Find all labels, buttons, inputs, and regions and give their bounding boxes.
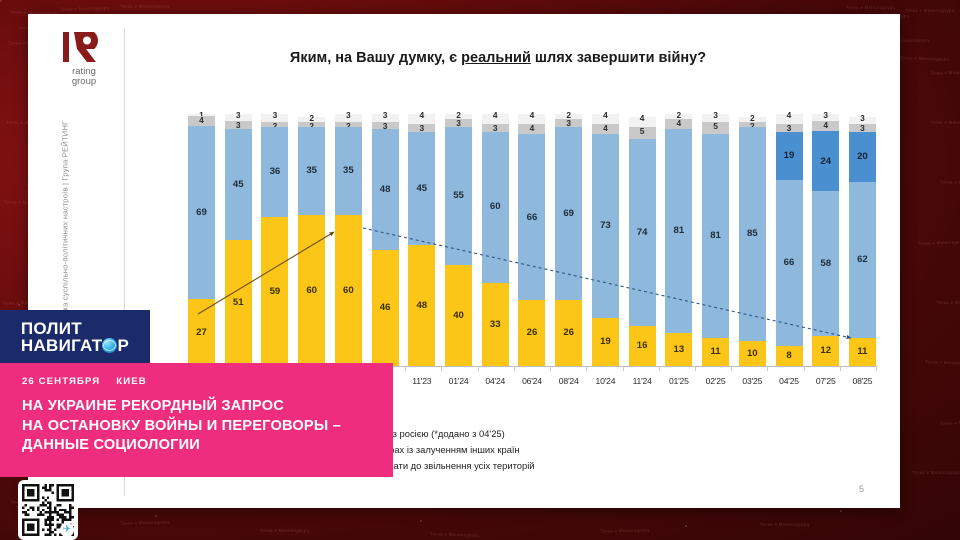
stacked-bar-chart: 1469273345513236592235603235603348464345…: [188, 114, 876, 366]
bar-column: 146927: [188, 114, 215, 366]
bar-segment-comp1: 16: [629, 326, 656, 366]
bar-segment-comp2: 60: [482, 132, 509, 283]
globe-icon: [102, 338, 117, 353]
x-axis-tick: [659, 366, 660, 371]
bar-segment-comp2: 85: [739, 127, 766, 341]
bar-column: 334846: [372, 114, 399, 366]
background-watermark-text: Точка и Монолодкурц: [430, 531, 480, 537]
bar-value-label: 46: [380, 303, 391, 313]
background-speck: [420, 520, 422, 522]
background-watermark-text: Точка и Монолодкурц: [60, 5, 110, 11]
background-watermark-text: Точка и Монолодкурц: [936, 300, 960, 305]
bar-value-label: 10: [747, 349, 758, 359]
bar-value-label: 11: [710, 347, 720, 357]
x-axis-label: 04'25: [776, 376, 803, 386]
bar-segment-comp1: 48: [408, 245, 435, 366]
bar-segment-comp2: 74: [629, 139, 656, 325]
background-watermark-text: Точка и Монолодкурц: [260, 528, 309, 533]
banner-date: 26 СЕНТЯБРЯ: [22, 376, 100, 387]
bar-segment-comp1: 12: [812, 336, 839, 366]
background-watermark-text: Точка и Монолодкурц: [912, 470, 960, 475]
bar-value-label: 19: [600, 337, 611, 347]
x-axis-label: 11'23: [408, 376, 435, 386]
x-axis-tick: [804, 366, 805, 371]
bar-value-label: 66: [527, 213, 538, 223]
x-axis-label: 04'24: [482, 376, 509, 386]
background-watermark-text: Точка и Монолодкурц: [930, 69, 960, 75]
bar-segment-refuse: 3: [408, 124, 435, 132]
bar-column: 457416: [629, 114, 656, 366]
bar-segment-comp2: 55: [445, 127, 472, 266]
x-axis-label: 08'24: [555, 376, 582, 386]
bar-value-label: 11: [857, 347, 867, 357]
bar-segment-refuse: 3: [225, 121, 252, 128]
background-watermark-text: Точка и Монолодкурц: [600, 527, 650, 533]
bar-column: 34245812: [812, 114, 839, 366]
bar-segment-refuse: 3: [849, 124, 876, 132]
bar-value-label: 4: [823, 121, 828, 129]
bar-value-label: 5: [640, 127, 645, 135]
bar-segment-comp1: 60: [298, 215, 325, 366]
x-axis-tick: [731, 366, 732, 371]
x-axis-label: 11'24: [629, 376, 656, 386]
bar-value-label: 69: [196, 208, 207, 218]
bar-value-label: 4: [603, 111, 608, 119]
bar-segment-comp1: 19: [592, 318, 619, 366]
bar-value-label: 26: [527, 328, 538, 338]
bar-segment-comp2: 45: [225, 129, 252, 240]
news-banner: 26 СЕНТЯБРЯКИЕВ НА УКРАИНЕ РЕКОРДНЫЙ ЗАП…: [0, 363, 393, 477]
x-axis-tick: [623, 366, 624, 371]
bar-value-label: 60: [343, 286, 354, 296]
qr-code[interactable]: ✈: [18, 480, 78, 540]
background-watermark-text: Точка и Монолодкурц: [918, 239, 960, 245]
bar-value-label: 13: [674, 345, 685, 355]
screen: Точка и МонолодкурцТочка и МонолодкурцТо…: [0, 0, 960, 540]
bar-value-label: 60: [490, 202, 501, 212]
bar-segment-comp2: 48: [372, 129, 399, 250]
background-watermark-text: Точка и Монолодкурц: [760, 522, 809, 527]
brand-line-1: ПОЛИТ: [21, 320, 129, 337]
x-axis-tick: [695, 366, 696, 371]
page-number: 5: [859, 484, 864, 494]
x-axis-label: 10'24: [592, 376, 619, 386]
vertical-caption: Динаміка суспільно-політичних настроїв |…: [61, 114, 70, 344]
bar-segment-comp1: 27: [188, 299, 215, 366]
bar-segment-comp2: 62: [849, 182, 876, 338]
bar-value-label: 48: [416, 301, 427, 311]
rating-group-logo: rating group: [48, 30, 120, 96]
bar-value-label: 58: [820, 259, 831, 269]
logo-word-group: group: [72, 77, 96, 87]
brand-line-2b: Р: [117, 336, 129, 355]
background-speck: [0, 0, 2, 2]
x-axis-label: 07'25: [812, 376, 839, 386]
bar-segment-refuse: 3: [372, 122, 399, 130]
bar-segment-refuse: 4: [518, 124, 545, 134]
background-speck: [840, 510, 842, 512]
bar-segment-refuse: 3: [445, 119, 472, 127]
brand-line-2a: НАВИГАТ: [21, 336, 103, 355]
bar-value-label: 27: [196, 328, 207, 338]
bar-segment-comp1: 60: [335, 215, 362, 366]
bar-value-label: 35: [343, 166, 354, 176]
bar-value-label: 3: [383, 111, 388, 119]
bar-value-label: 45: [416, 184, 427, 194]
bar-value-label: 55: [453, 191, 464, 201]
bar-segment-comp2: 36: [261, 127, 288, 218]
x-axis-label: 02'25: [702, 376, 729, 386]
x-axis-label: 06'24: [518, 376, 545, 386]
bar-value-label: 24: [820, 157, 831, 167]
bar-value-label: 5: [713, 122, 718, 130]
bar-column: 447319: [592, 114, 619, 366]
bar-column: 223560: [298, 114, 325, 366]
bar-column: 236926: [555, 114, 582, 366]
bar-segment-refuse: 5: [629, 127, 656, 140]
bar-segment-comp2: 35: [335, 127, 362, 215]
bar-value-label: 3: [860, 114, 865, 122]
x-axis-tick: [550, 366, 551, 371]
chart-title-underlined: реальний: [461, 50, 531, 66]
banner-meta: 26 СЕНТЯБРЯКИЕВ: [22, 376, 147, 387]
bar-column: 446626: [518, 114, 545, 366]
bar-column: 4319668: [776, 114, 803, 366]
bar-column: 248113: [665, 114, 692, 366]
bar-value-label: 3: [713, 111, 718, 119]
bar-value-label: 4: [530, 111, 535, 119]
bar-segment-comp2: 45: [408, 132, 435, 245]
background-speck: [155, 515, 157, 517]
bar-segment-comp1: 59: [261, 217, 288, 366]
bar-column: 436033: [482, 114, 509, 366]
background-watermark-text: Точка и Монолодкурц: [120, 4, 169, 9]
background-watermark-text: Точка и Монолодкурц: [846, 5, 895, 10]
bar-segment-refuse: 4: [592, 124, 619, 134]
bar-value-label: 3: [236, 111, 241, 119]
bar-value-label: 4: [493, 111, 498, 119]
background-speck: [18, 304, 20, 306]
bar-segment-comp1: 13: [665, 333, 692, 366]
x-axis-tick: [586, 366, 587, 371]
bar-value-label: 81: [710, 231, 721, 241]
banner-city: КИЕВ: [116, 376, 146, 387]
headline-line-1: НА УКРАИНЕ РЕКОРДНЫЙ ЗАПРОС: [22, 397, 382, 417]
bar-segment-refuse: 3: [482, 124, 509, 132]
bar-value-label: 81: [674, 226, 685, 236]
bar-value-label: 8: [786, 351, 791, 361]
background-watermark-text: Точка и Монолодкурц: [120, 519, 170, 525]
bar-segment-comp1: 11: [702, 338, 729, 366]
chart-title-post: шлях завершити війну?: [531, 50, 706, 66]
bar-value-label: 4: [530, 124, 535, 132]
bar-segment-comp2: 81: [665, 129, 692, 333]
bar-segment-comp3: 19: [776, 132, 803, 180]
x-axis-label: 01'25: [665, 376, 692, 386]
bar-value-label: 26: [563, 328, 574, 338]
x-axis-label: 01'24: [445, 376, 472, 386]
bar-column: 228510: [739, 114, 766, 366]
background-watermark-text: Точка и Монолодкурц: [940, 179, 960, 185]
bar-value-label: 40: [453, 311, 464, 321]
bar-segment-refuse: 4: [188, 116, 215, 126]
bar-segment-comp1: 46: [372, 250, 399, 366]
bar-value-label: 74: [637, 228, 648, 238]
bar-value-label: 51: [233, 298, 244, 308]
banner-headline: НА УКРАИНЕ РЕКОРДНЫЙ ЗАПРОС НА ОСТАНОВКУ…: [22, 397, 382, 456]
bar-value-label: 3: [823, 111, 828, 119]
bar-value-label: 48: [380, 185, 391, 195]
bar-segment-comp2: 81: [702, 134, 729, 338]
bar-value-label: 16: [637, 341, 648, 351]
bar-segment-refuse: 3: [555, 119, 582, 127]
bar-column: 334551: [225, 114, 252, 366]
x-axis-tick: [441, 366, 442, 371]
bar-segment-comp1: 26: [555, 300, 582, 366]
bar-segment-comp2: 58: [812, 191, 839, 336]
bar-column: 358111: [702, 114, 729, 366]
bar-value-label: 3: [273, 111, 278, 119]
background-watermark-text: Точка и Монолодкурц: [940, 419, 960, 425]
bar-value-label: 62: [857, 255, 868, 265]
bar-value-label: 33: [490, 320, 501, 330]
background-speck: [685, 525, 687, 527]
bar-segment-comp2: 66: [776, 180, 803, 346]
bar-segment-comp1: 33: [482, 283, 509, 366]
bar-segment-comp1: 8: [776, 346, 803, 366]
bar-value-label: 59: [270, 287, 281, 297]
bar-value-label: 19: [784, 151, 795, 161]
headline-line-2: НА ОСТАНОВКУ ВОЙНЫ И ПЕРЕГОВОРЫ –: [22, 417, 382, 437]
bar-column: 235540: [445, 114, 472, 366]
bar-series-container: 1469273345513236592235603235603348464345…: [188, 114, 876, 366]
bar-value-label: 73: [600, 221, 611, 231]
bar-segment-comp1: 11: [849, 338, 876, 366]
bar-value-label: 60: [306, 286, 317, 296]
telegram-icon: ✈: [60, 523, 74, 537]
bar-value-label: 66: [784, 258, 795, 268]
bar-segment-comp1: 51: [225, 240, 252, 366]
x-axis-tick: [840, 366, 841, 371]
x-axis-label: 03'25: [739, 376, 766, 386]
bar-segment-refuse: 4: [812, 121, 839, 131]
bar-value-label: 4: [787, 111, 792, 119]
polit-navigator-logo: ПОЛИТ НАВИГАТР: [0, 310, 150, 363]
bar-segment-comp3: 20: [849, 132, 876, 182]
bar-column: 33206211: [849, 114, 876, 366]
x-axis-tick: [767, 366, 768, 371]
bar-segment-comp2: 35: [298, 127, 325, 215]
bar-segment-comp2: 69: [555, 127, 582, 301]
bar-value-label: 4: [603, 124, 608, 132]
bar-value-label: 3: [346, 111, 351, 119]
x-axis-tick: [876, 366, 877, 371]
background-watermark-text: Точка и Монолодкурц: [905, 8, 954, 13]
bar-value-label: 4: [677, 119, 682, 127]
bar-column: 434548: [408, 114, 435, 366]
x-axis-tick: [514, 366, 515, 371]
chart-title: Яким, на Вашу думку, є реальний шлях зав…: [148, 50, 848, 66]
bar-value-label: 12: [820, 346, 831, 356]
bar-segment-refuse: 4: [665, 119, 692, 129]
chart-title-pre: Яким, на Вашу думку, є: [290, 50, 461, 66]
bar-segment-comp1: 26: [518, 300, 545, 366]
x-axis-tick: [405, 366, 406, 371]
bar-value-label: 4: [419, 111, 424, 119]
bar-value-label: 35: [306, 166, 317, 176]
background-watermark-text: Точка и Монолодкурц: [925, 359, 960, 365]
bar-segment-comp1: 10: [739, 341, 766, 366]
bar-segment-comp2: 73: [592, 134, 619, 318]
bar-segment-comp2: 66: [518, 134, 545, 300]
bar-segment-comp3: 24: [812, 131, 839, 191]
bar-value-label: 20: [857, 152, 868, 162]
bar-segment-comp2: 69: [188, 126, 215, 298]
bar-value-label: 45: [233, 180, 244, 190]
bar-segment-comp1: 40: [445, 265, 472, 366]
bar-segment-refuse: 3: [776, 124, 803, 132]
bar-value-label: 36: [270, 167, 281, 177]
background-watermark-text: Точка и Монолодкурц: [900, 55, 950, 61]
bar-segment-refuse: 5: [702, 122, 729, 135]
bar-value-label: 69: [563, 209, 574, 219]
bar-value-label: 4: [199, 116, 204, 124]
rating-group-mark-icon: [61, 30, 107, 64]
background-watermark-text: Точка и Монолодкурц: [930, 120, 960, 125]
x-axis-tick: [478, 366, 479, 371]
x-axis-label: 08'25: [849, 376, 876, 386]
bar-column: 323560: [335, 114, 362, 366]
headline-line-3: ДАННЫЕ СОЦИОЛОГИИ: [22, 436, 382, 456]
bar-value-label: 4: [640, 114, 645, 122]
bar-column: 323659: [261, 114, 288, 366]
bar-value-label: 85: [747, 229, 758, 239]
